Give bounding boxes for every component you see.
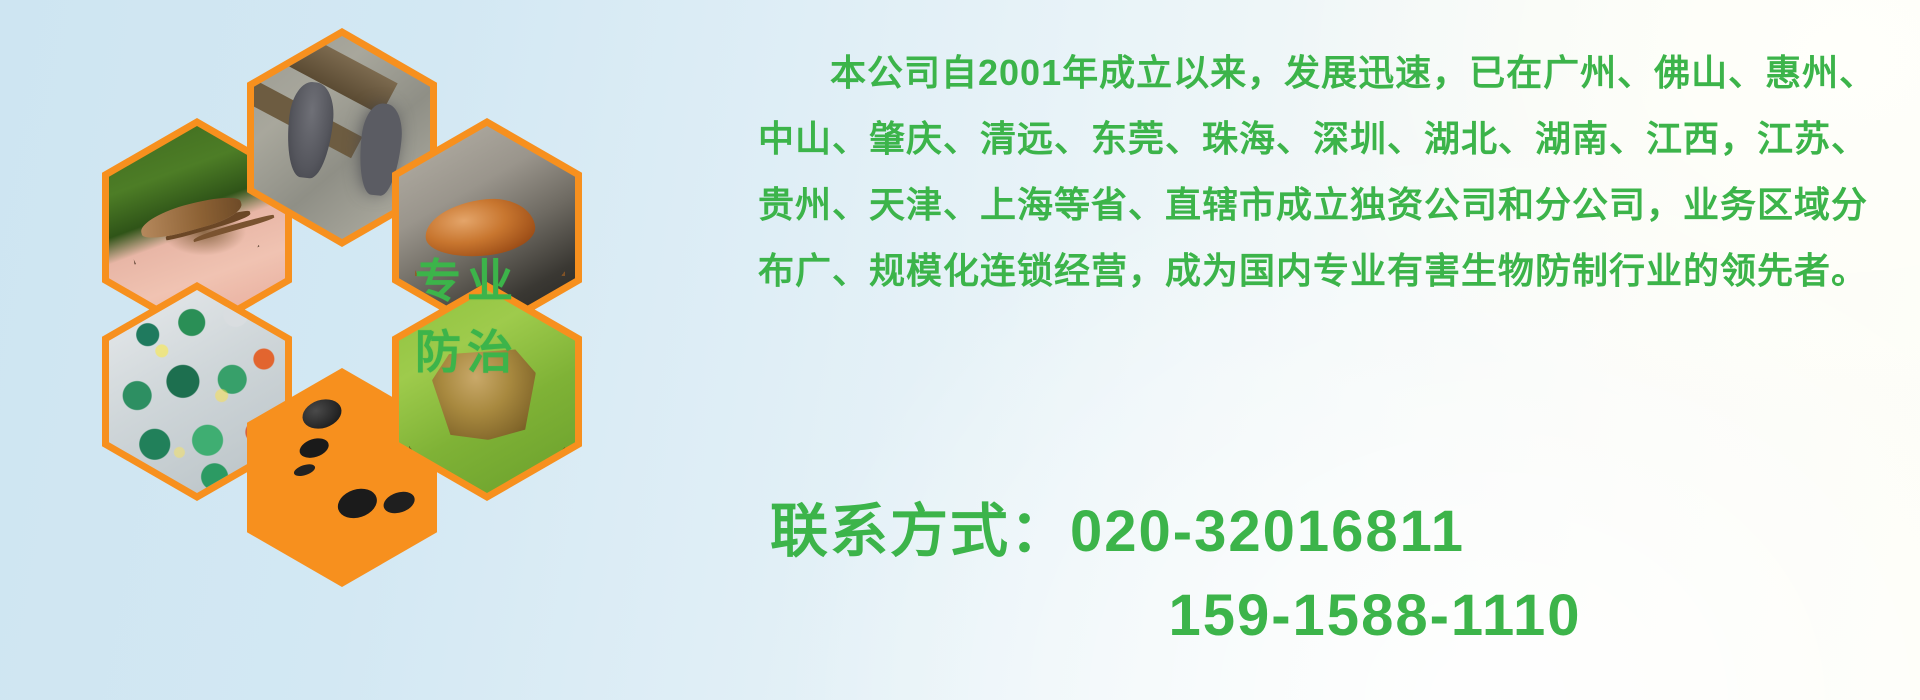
promo-banner: 专业 防治 本公司自2001年成立以来，发展迅速，已在广州、佛山、惠州、中山、肇… — [0, 0, 1920, 700]
company-description-text: 本公司自2001年成立以来，发展迅速，已在广州、佛山、惠州、中山、肇庆、清远、东… — [758, 40, 1898, 304]
company-description: 本公司自2001年成立以来，发展迅速，已在广州、佛山、惠州、中山、肇庆、清远、东… — [758, 40, 1898, 304]
contact-phone-secondary[interactable]: 159-1588-1110 — [770, 574, 1830, 658]
slogan-line-2: 防治 — [405, 317, 529, 388]
contact-block: 联系方式：020-32016811 159-1588-1110 — [770, 490, 1830, 658]
contact-phone-primary[interactable]: 020-32016811 — [1070, 499, 1465, 564]
slogan-line-1: 专业 — [405, 246, 529, 317]
hexagon-image-cluster: 专业 防治 — [84, 10, 604, 700]
center-slogan: 专业 防治 — [405, 246, 529, 389]
contact-label: 联系方式： — [770, 499, 1070, 564]
contact-primary-row: 联系方式：020-32016811 — [770, 490, 1830, 574]
